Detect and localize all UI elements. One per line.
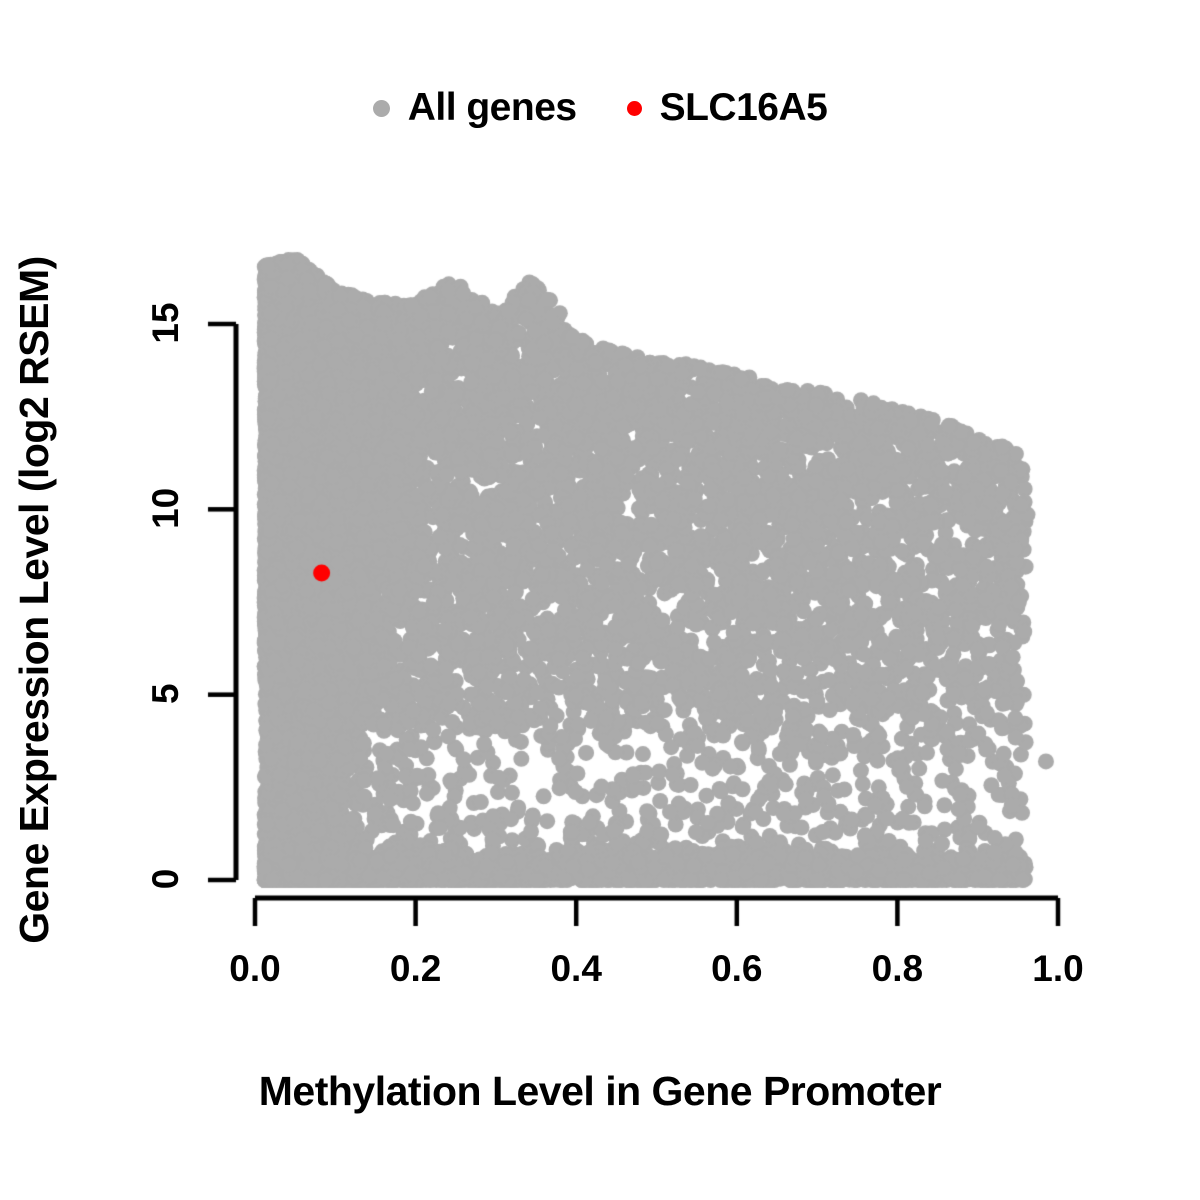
x-tick-label-0.8: 0.8 — [872, 948, 923, 990]
x-tick-label-0.6: 0.6 — [711, 948, 762, 990]
legend-item-slc16a5: SLC16A5 — [627, 86, 828, 130]
y-tick-label-0: 0 — [145, 839, 187, 919]
x-tick-label-0.0: 0.0 — [229, 948, 280, 990]
y-axis-title: Gene Expression Level (log2 RSEM) — [11, 0, 71, 1200]
y-tick-label-5: 5 — [145, 654, 187, 734]
x-tick-label-0.2: 0.2 — [390, 948, 441, 990]
legend-marker-gray-circle-icon — [373, 100, 390, 117]
y-tick-label-10: 10 — [145, 468, 187, 548]
x-tick-label-1.0: 1.0 — [1032, 948, 1083, 990]
legend-item-all-genes: All genes — [373, 86, 577, 130]
y-tick-label-15: 15 — [145, 283, 187, 363]
scatter-plot-figure: All genes SLC16A5 Methylation Level in G… — [0, 0, 1200, 1200]
scatter-plot-canvas — [0, 0, 1200, 1200]
legend-label-all-genes: All genes — [408, 86, 577, 130]
chart-legend: All genes SLC16A5 — [0, 78, 1200, 138]
legend-label-slc16a5: SLC16A5 — [660, 86, 828, 130]
x-tick-label-0.4: 0.4 — [550, 948, 601, 990]
legend-marker-red-circle-icon — [627, 101, 642, 116]
x-axis-title: Methylation Level in Gene Promoter — [0, 1068, 1200, 1115]
